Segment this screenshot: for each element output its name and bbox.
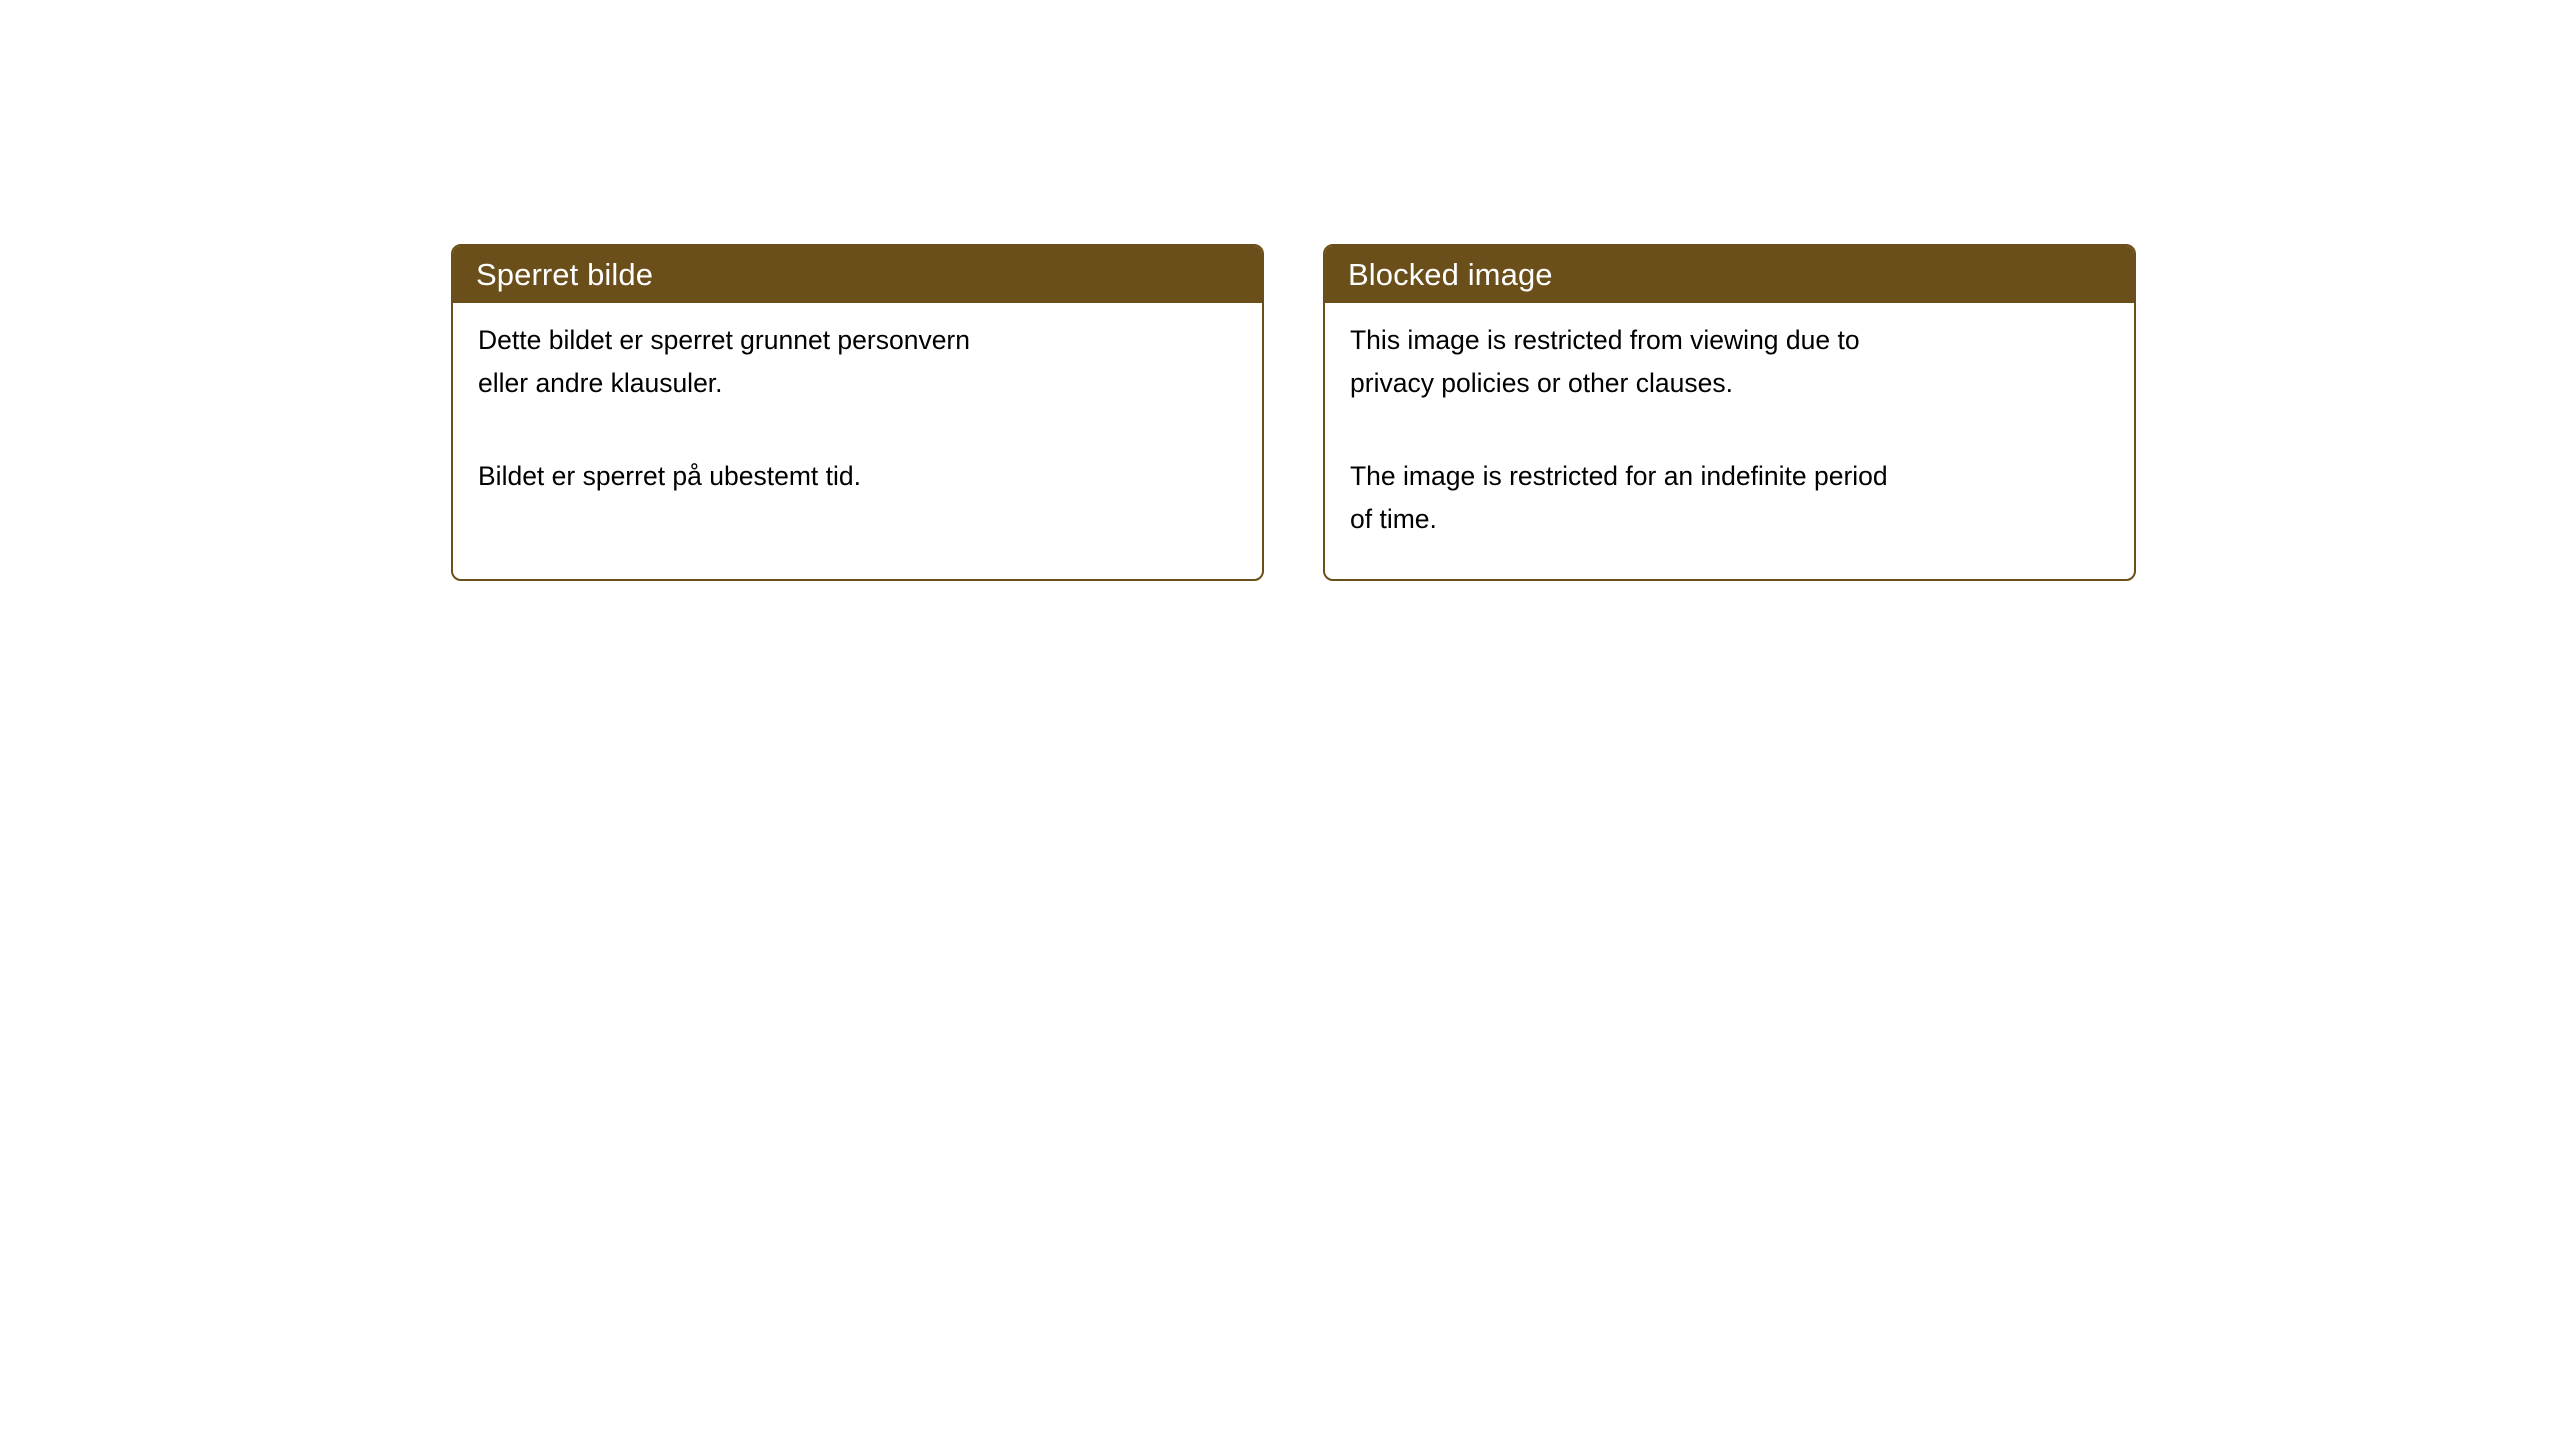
card-paragraph-english-2: The image is restricted for an indefinit… <box>1350 455 2110 541</box>
card-title-norwegian: Sperret bilde <box>476 259 653 290</box>
card-header-norwegian: Sperret bilde <box>453 246 1262 303</box>
blocked-image-notice-group: Sperret bilde Dette bildet er sperret gr… <box>451 244 2136 581</box>
blocked-image-card-english: Blocked image This image is restricted f… <box>1323 244 2136 581</box>
card-paragraph-line: Bildet er sperret på ubestemt tid. <box>478 455 1178 498</box>
card-paragraph-line: privacy policies or other clauses. <box>1350 362 2110 405</box>
card-body-norwegian: Dette bildet er sperret grunnet personve… <box>453 303 1262 579</box>
card-paragraph-line: of time. <box>1350 498 2110 541</box>
blocked-image-card-norwegian: Sperret bilde Dette bildet er sperret gr… <box>451 244 1264 581</box>
card-body-english: This image is restricted from viewing du… <box>1325 303 2134 579</box>
card-paragraph-english-1: This image is restricted from viewing du… <box>1350 319 2110 405</box>
card-paragraph-line: Dette bildet er sperret grunnet personve… <box>478 319 1178 362</box>
page-root: { "page": { "background_color": "#ffffff… <box>0 0 2560 1440</box>
card-paragraph-line: This image is restricted from viewing du… <box>1350 319 2110 362</box>
card-header-english: Blocked image <box>1325 246 2134 303</box>
card-title-english: Blocked image <box>1348 259 1553 290</box>
card-paragraph-norwegian-1: Dette bildet er sperret grunnet personve… <box>478 319 1178 405</box>
card-paragraph-line: The image is restricted for an indefinit… <box>1350 455 2110 498</box>
card-paragraph-line: eller andre klausuler. <box>478 362 1178 405</box>
card-paragraph-norwegian-2: Bildet er sperret på ubestemt tid. <box>478 455 1178 498</box>
